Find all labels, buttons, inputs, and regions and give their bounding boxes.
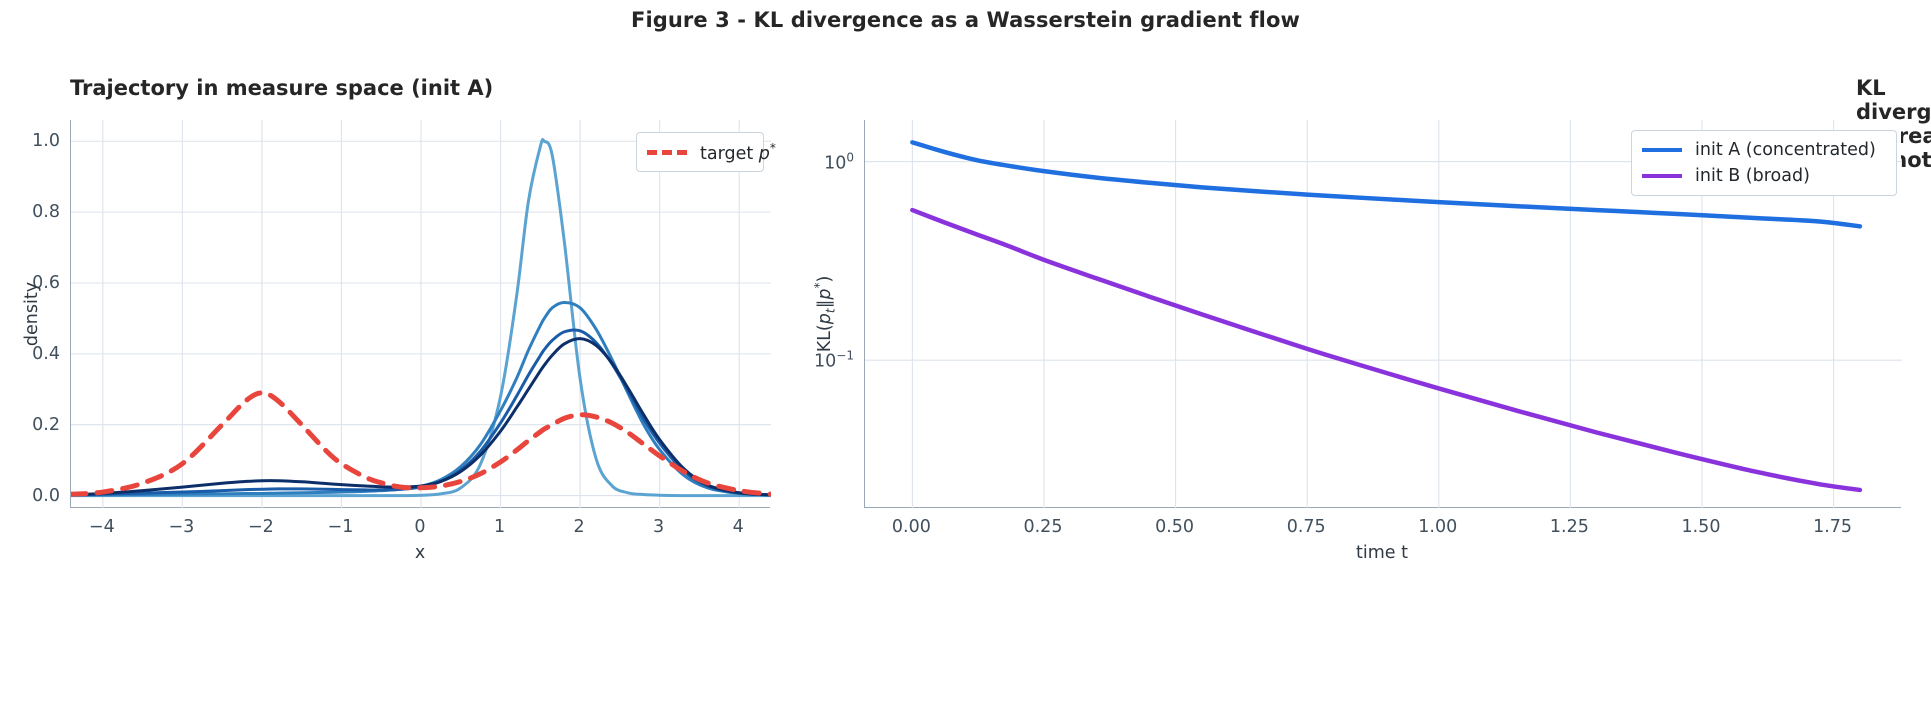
x-tick: −1 [328,517,354,537]
x-tick: 3 [653,517,664,537]
legend-swatch-init-a [1642,148,1682,152]
trajectory-legend[interactable]: target p* [636,132,764,172]
legend-label-target: target p* [700,141,776,164]
x-tick: 0.00 [892,517,931,537]
x-tick: −3 [168,517,194,537]
legend-label-init-a: init A (concentrated) [1695,140,1876,160]
x-tick: 1.00 [1418,517,1457,537]
legend-swatch-target [647,150,687,155]
legend-item-target[interactable]: target p* [647,139,751,165]
y-tick: 0.8 [32,202,60,222]
legend-swatch-init-b [1642,174,1682,178]
x-tick: 1.50 [1681,517,1720,537]
legend-item-init-b[interactable]: init B (broad) [1642,163,1884,189]
legend-label-init-b: init B (broad) [1695,166,1810,186]
x-tick: 0.75 [1287,517,1326,537]
trajectory-x-axis-label: x [415,543,425,563]
x-tick: 1.25 [1550,517,1589,537]
x-tick: 0 [414,517,425,537]
x-tick: −4 [89,517,115,537]
x-tick: 0.25 [1023,517,1062,537]
x-tick: 1 [494,517,505,537]
trajectory-y-axis-label: density [22,282,42,346]
y-tick: 0.0 [32,486,60,506]
kl-y-axis-label: KL(pt∥p*) [812,276,837,353]
x-tick: −2 [248,517,274,537]
x-tick: 2 [574,517,585,537]
kl-legend[interactable]: init A (concentrated) init B (broad) [1631,130,1897,196]
x-tick: 1.75 [1813,517,1852,537]
panel-kl-divergence: KL divergence decreases monotonically 0.… [966,62,1931,692]
trajectory-curves [71,120,771,508]
legend-item-init-a[interactable]: init A (concentrated) [1642,137,1884,163]
kl-x-axis-label: time t [1356,543,1408,563]
x-tick: 4 [733,517,744,537]
y-tick: 0.2 [32,415,60,435]
figure-title: Figure 3 - KL divergence as a Wasserstei… [0,8,1931,32]
y-tick: 0.4 [32,344,60,364]
left-panel-title: Trajectory in measure space (init A) [70,76,493,100]
trajectory-plot-area [70,120,770,508]
x-tick: 0.50 [1155,517,1194,537]
y-tick: 100 [806,150,854,173]
y-tick: 1.0 [32,131,60,151]
